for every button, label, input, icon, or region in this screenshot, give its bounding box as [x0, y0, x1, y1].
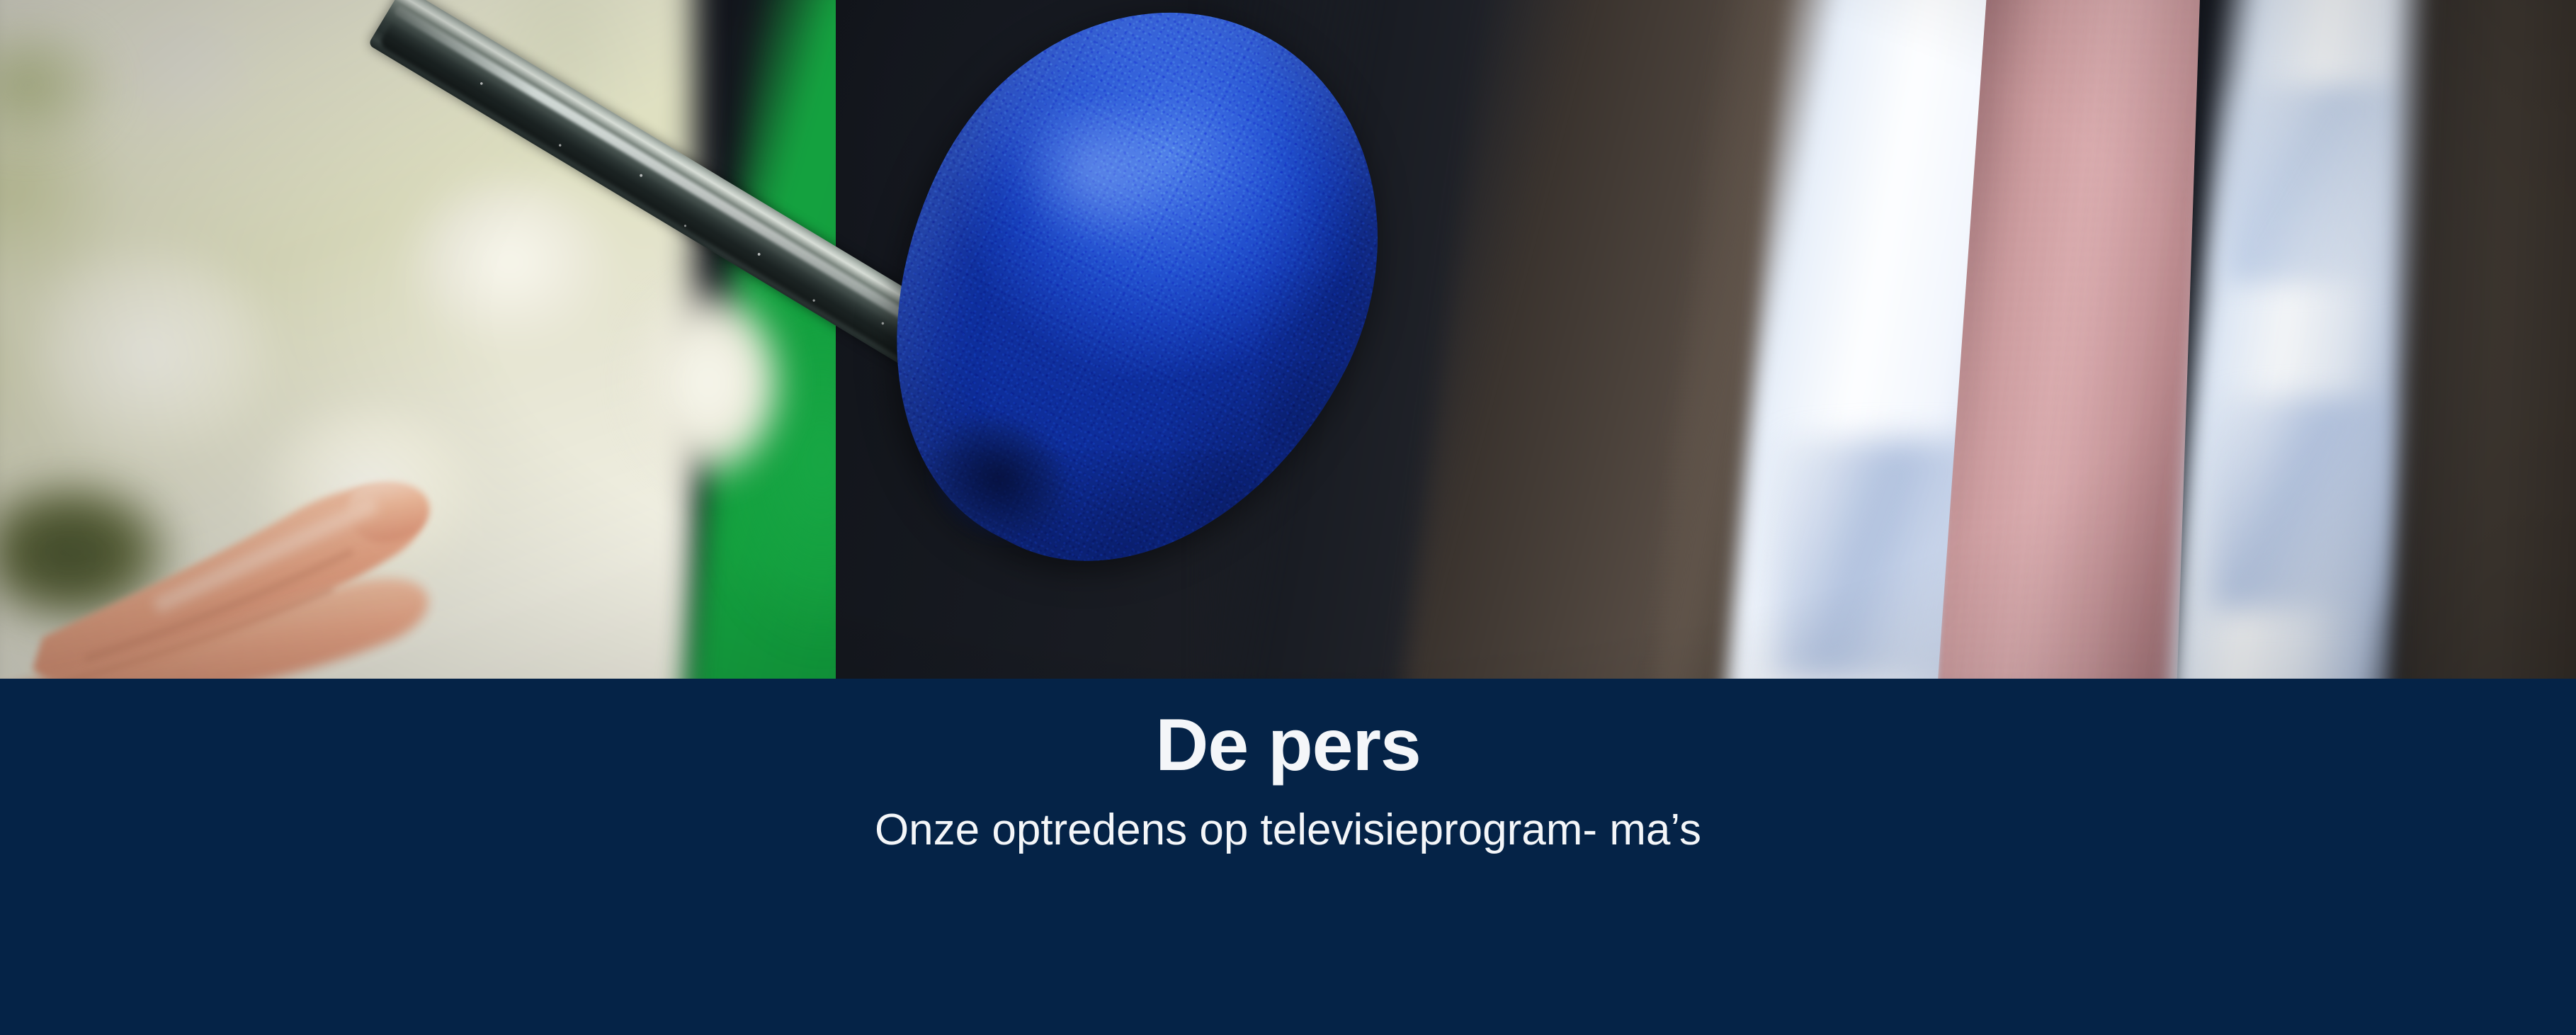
page-subtitle: Onze optredens op televisieprogram- ma’s — [875, 802, 1701, 858]
press-hero-page: De pers Onze optredens op televisieprogr… — [0, 0, 2576, 1035]
hero-photo — [0, 0, 2576, 679]
background-foliage-highlight — [0, 0, 191, 184]
caption-banner: De pers Onze optredens op televisieprogr… — [0, 679, 2576, 1035]
suit-jacket-right-edge — [2394, 0, 2576, 679]
interviewer-hand — [0, 425, 779, 679]
page-title: De pers — [1155, 704, 1421, 786]
dress-shirt-fold-lower — [2210, 397, 2408, 609]
dress-shirt-fold-upper — [2224, 85, 2408, 283]
